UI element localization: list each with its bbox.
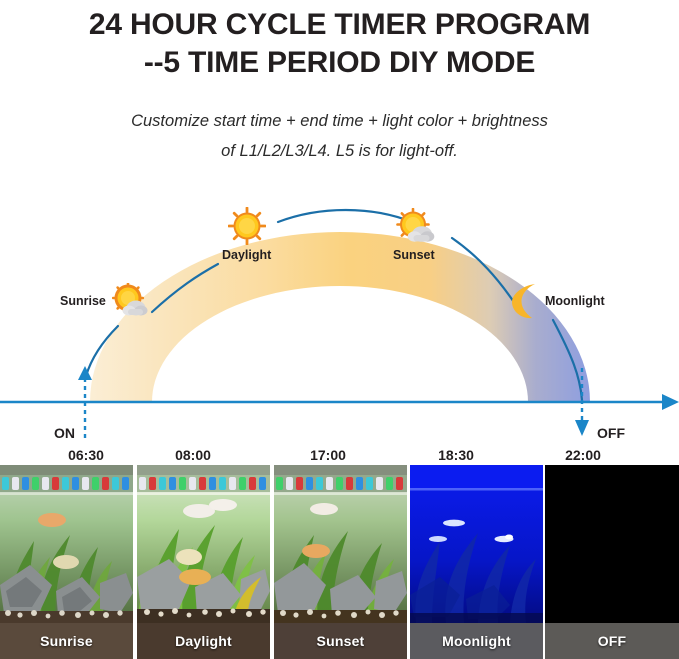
photo-caption-bar-sunset: Sunset xyxy=(274,623,407,659)
header: 24 HOUR CYCLE TIMER PROGRAM --5 TIME PER… xyxy=(0,0,679,166)
page-title-line-1: 24 HOUR CYCLE TIMER PROGRAM xyxy=(0,6,679,44)
photo-caption-sunrise: Sunrise xyxy=(40,633,93,649)
aquarium-scene-sunset xyxy=(274,465,407,623)
day-cycle-diagram: Sunrise xyxy=(0,180,679,465)
aquarium-photo-strip: Sunrise xyxy=(0,465,679,659)
photo-caption-bar-off: OFF xyxy=(545,623,679,659)
photo-caption-bar-daylight: Daylight xyxy=(137,623,270,659)
diagram-graphics xyxy=(0,180,679,465)
page-title-line-2: --5 TIME PERIOD DIY MODE xyxy=(0,44,679,82)
timeline-tick-2: 17:00 xyxy=(290,447,366,463)
photo-panel-daylight: Daylight xyxy=(137,465,270,659)
timeline-tick-1: 08:00 xyxy=(155,447,231,463)
photo-caption-off: OFF xyxy=(598,633,627,649)
sun-icon xyxy=(228,207,266,250)
photo-caption-bar-moonlight: Moonlight xyxy=(410,623,543,659)
photo-caption-sunset: Sunset xyxy=(317,633,365,649)
phase-label-sunrise: Sunrise xyxy=(60,294,106,308)
sun-behind-cloud-icon xyxy=(112,283,152,324)
timeline-tick-0: 06:30 xyxy=(48,447,124,463)
page-subtitle-line-2: of L1/L2/L3/L4. L5 is for light-off. xyxy=(0,136,679,166)
phase-label-daylight: Daylight xyxy=(222,248,271,262)
timeline-on-label: ON xyxy=(54,425,75,441)
phase-label-moonlight: Moonlight xyxy=(545,294,605,308)
phase-label-sunset: Sunset xyxy=(393,248,435,262)
photo-caption-moonlight: Moonlight xyxy=(442,633,511,649)
timeline-tick-4: 22:00 xyxy=(545,447,621,463)
aquarium-scene-daylight xyxy=(137,465,270,623)
timeline-tick-3: 18:30 xyxy=(418,447,494,463)
photo-panel-off: OFF xyxy=(545,465,679,659)
crescent-moon-icon xyxy=(508,281,544,326)
aquarium-scene-off xyxy=(545,465,679,623)
timeline-off-label: OFF xyxy=(597,425,625,441)
photo-panel-sunrise: Sunrise xyxy=(0,465,133,659)
photo-caption-bar-sunrise: Sunrise xyxy=(0,623,133,659)
photo-caption-daylight: Daylight xyxy=(175,633,232,649)
photo-panel-moonlight: Moonlight xyxy=(410,465,543,659)
photo-panel-sunset: Sunset xyxy=(274,465,407,659)
aquarium-scene-moonlight xyxy=(410,465,543,623)
aquarium-scene-sunrise xyxy=(0,465,133,623)
sun-behind-cloud-icon xyxy=(396,208,438,251)
page-subtitle-line-1: Customize start time + end time + light … xyxy=(0,106,679,136)
